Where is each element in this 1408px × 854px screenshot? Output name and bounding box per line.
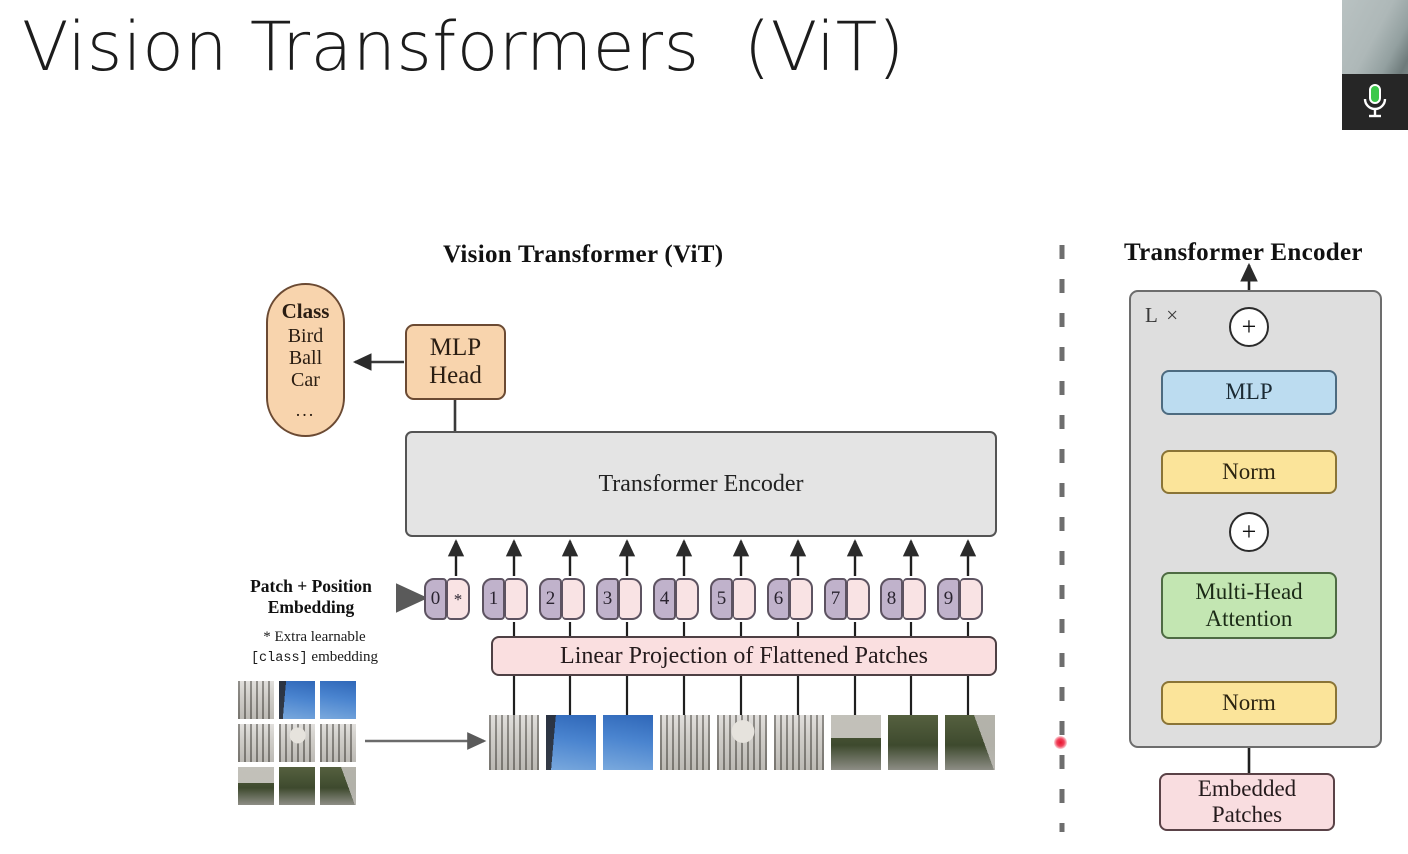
class-output-box: Class Bird Ball Car ...: [266, 283, 345, 437]
mha-line2: Attention: [1206, 606, 1293, 632]
right-panel-title: Transformer Encoder: [1124, 239, 1363, 267]
image-patch-5: [279, 724, 315, 762]
token-position-6: [790, 578, 813, 620]
extra-learnable-line1: * Extra learnable: [222, 628, 407, 648]
encoder-block-norm-lower: Norm: [1161, 681, 1337, 725]
vit-architecture-figure: Vision Transformer (ViT) Transformer Enc…: [0, 0, 1408, 854]
embedding-label-line1: Patch + Position: [222, 576, 400, 597]
image-patch-9: [320, 767, 356, 805]
mlp-head-line1: MLP: [430, 334, 481, 362]
image-patch-8: [279, 767, 315, 805]
token-number-0: 0: [424, 578, 447, 620]
token-7: 7: [824, 578, 870, 620]
token-position-0: *: [447, 578, 470, 620]
flattened-patch-8: [888, 715, 938, 770]
image-patch-4: [238, 724, 274, 762]
layer-repeat-label: L ×: [1145, 303, 1180, 328]
token-number-7: 7: [824, 578, 847, 620]
token-number-1: 1: [482, 578, 505, 620]
token-6: 6: [767, 578, 813, 620]
class-ellipsis: ...: [296, 400, 316, 420]
class-token-mono: [class]: [251, 651, 308, 666]
flattened-patch-7: [831, 715, 881, 770]
laser-pointer-dot: [1054, 736, 1067, 749]
image-patch-1: [238, 681, 274, 719]
residual-add-node-middle: +: [1229, 512, 1269, 552]
class-item-car: Car: [291, 369, 320, 391]
left-panel-title: Vision Transformer (ViT): [443, 241, 723, 269]
token-4: 4: [653, 578, 699, 620]
extra-learnable-note: * Extra learnable [class] embedding: [222, 628, 407, 667]
mlp-head-box: MLP Head: [405, 324, 506, 400]
image-patch-3: [320, 681, 356, 719]
token-position-8: [903, 578, 926, 620]
token-3: 3: [596, 578, 642, 620]
flattened-patch-5: [717, 715, 767, 770]
token-position-3: [619, 578, 642, 620]
class-box-header: Class: [282, 300, 330, 324]
embedding-label-line2: Embedding: [222, 597, 400, 618]
token-number-9: 9: [937, 578, 960, 620]
token-number-3: 3: [596, 578, 619, 620]
token-position-5: [733, 578, 756, 620]
patch-position-embedding-label: Patch + Position Embedding: [222, 576, 400, 618]
patch-position-token-row: 0*123456789: [424, 578, 1004, 620]
token-number-6: 6: [767, 578, 790, 620]
embedded-patches-line1: Embedded: [1198, 776, 1296, 802]
flattened-patch-6: [774, 715, 824, 770]
linear-projection-box: Linear Projection of Flattened Patches: [491, 636, 997, 676]
image-patch-6: [320, 724, 356, 762]
encoder-block-multi-head-attention: Multi-Head Attention: [1161, 572, 1337, 639]
embedded-patches-line2: Patches: [1212, 802, 1282, 828]
token-number-8: 8: [880, 578, 903, 620]
source-image-patch-grid: [238, 681, 356, 806]
token-number-4: 4: [653, 578, 676, 620]
flattened-patch-2: [546, 715, 596, 770]
class-item-ball: Ball: [289, 347, 322, 369]
flattened-patch-4: [660, 715, 710, 770]
token-8: 8: [880, 578, 926, 620]
encoder-block-mlp: MLP: [1161, 370, 1337, 415]
token-number-2: 2: [539, 578, 562, 620]
token-position-9: [960, 578, 983, 620]
mha-line1: Multi-Head: [1195, 579, 1302, 605]
flattened-patch-strip: [489, 715, 997, 770]
encoder-block-norm-upper: Norm: [1161, 450, 1337, 494]
token-number-5: 5: [710, 578, 733, 620]
extra-learnable-suffix: embedding: [308, 649, 378, 665]
residual-add-node-top: +: [1229, 307, 1269, 347]
token-1: 1: [482, 578, 528, 620]
flattened-patch-9: [945, 715, 995, 770]
mlp-head-line2: Head: [429, 362, 482, 390]
embedded-patches-box: Embedded Patches: [1159, 773, 1335, 831]
image-patch-7: [238, 767, 274, 805]
token-position-4: [676, 578, 699, 620]
token-2: 2: [539, 578, 585, 620]
extra-learnable-line2: [class] embedding: [222, 648, 407, 668]
class-item-bird: Bird: [288, 325, 324, 347]
token-9: 9: [937, 578, 983, 620]
token-position-1: [505, 578, 528, 620]
transformer-encoder-box: Transformer Encoder: [405, 431, 997, 537]
token-position-7: [847, 578, 870, 620]
flattened-patch-1: [489, 715, 539, 770]
token-5: 5: [710, 578, 756, 620]
token-0: 0*: [424, 578, 470, 620]
token-position-2: [562, 578, 585, 620]
image-patch-2: [279, 681, 315, 719]
flattened-patch-3: [603, 715, 653, 770]
